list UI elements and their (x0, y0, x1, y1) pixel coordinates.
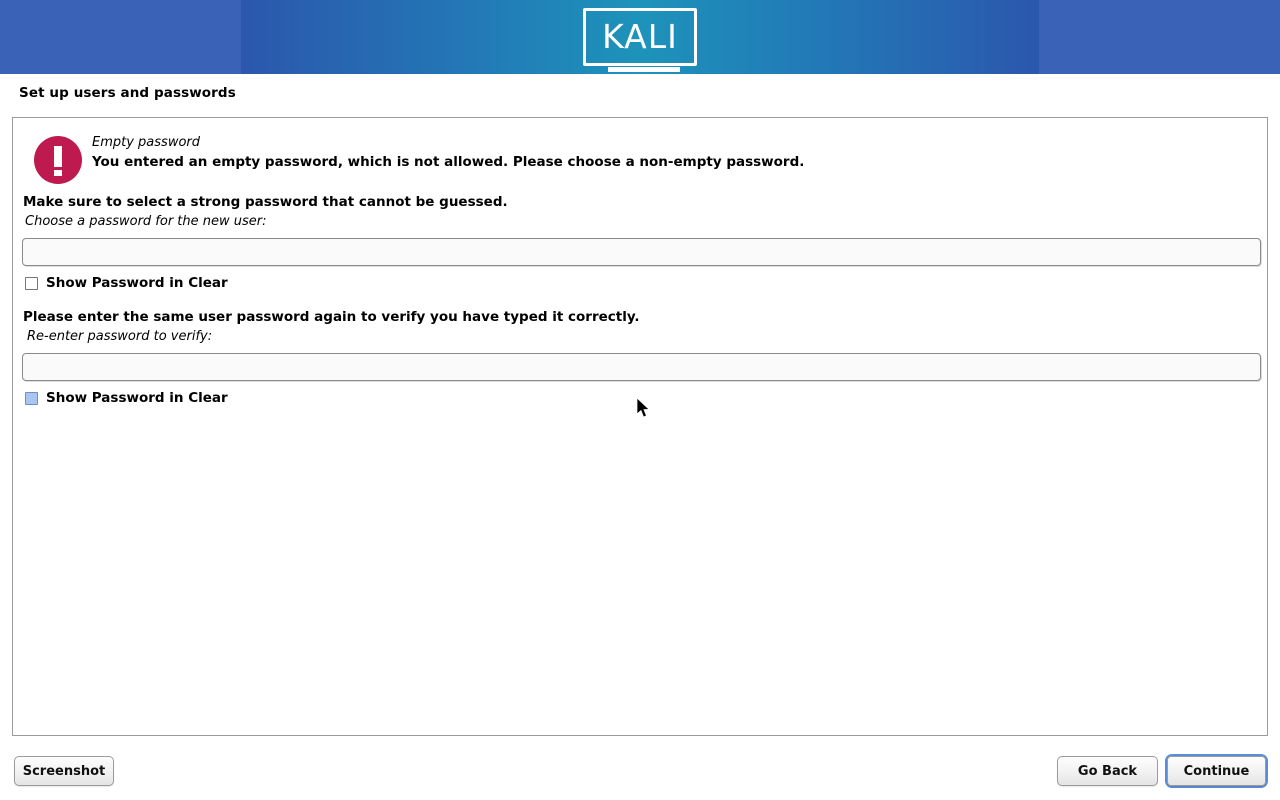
installer-content-panel: Empty password You entered an empty pass… (12, 117, 1268, 736)
kali-logo-underline (608, 67, 680, 72)
error-notice: Empty password You entered an empty pass… (23, 126, 1253, 188)
show-password-label-1: Show Password in Clear (46, 275, 228, 291)
show-password-label-2: Show Password in Clear (46, 390, 228, 406)
continue-button-focus-ring: Continue (1165, 754, 1268, 788)
show-password-checkbox-2[interactable] (25, 392, 38, 405)
password-field-label: Choose a password for the new user: (25, 214, 267, 229)
page-title: Set up users and passwords (19, 85, 236, 101)
error-exclamation-icon (34, 136, 82, 184)
go-back-button[interactable]: Go Back (1057, 756, 1158, 786)
continue-button[interactable]: Continue (1167, 756, 1266, 786)
kali-logo-notch (583, 66, 605, 69)
kali-logo: KALI (583, 8, 697, 66)
exclamation-dot (54, 170, 62, 176)
kali-logo-text: KALI (583, 8, 697, 66)
kali-header-banner: KALI (0, 0, 1280, 74)
error-title: Empty password (92, 135, 200, 150)
verify-password-input[interactable] (22, 353, 1261, 381)
password-input[interactable] (22, 238, 1261, 266)
verify-instruction: Please enter the same user password agai… (23, 309, 640, 325)
show-password-checkbox-1[interactable] (25, 277, 38, 290)
screenshot-button[interactable]: Screenshot (14, 756, 114, 786)
password-strength-instruction: Make sure to select a strong password th… (23, 194, 508, 210)
exclamation-stem (54, 146, 62, 167)
error-message: You entered an empty password, which is … (92, 154, 804, 170)
verify-field-label: Re-enter password to verify: (27, 329, 212, 344)
